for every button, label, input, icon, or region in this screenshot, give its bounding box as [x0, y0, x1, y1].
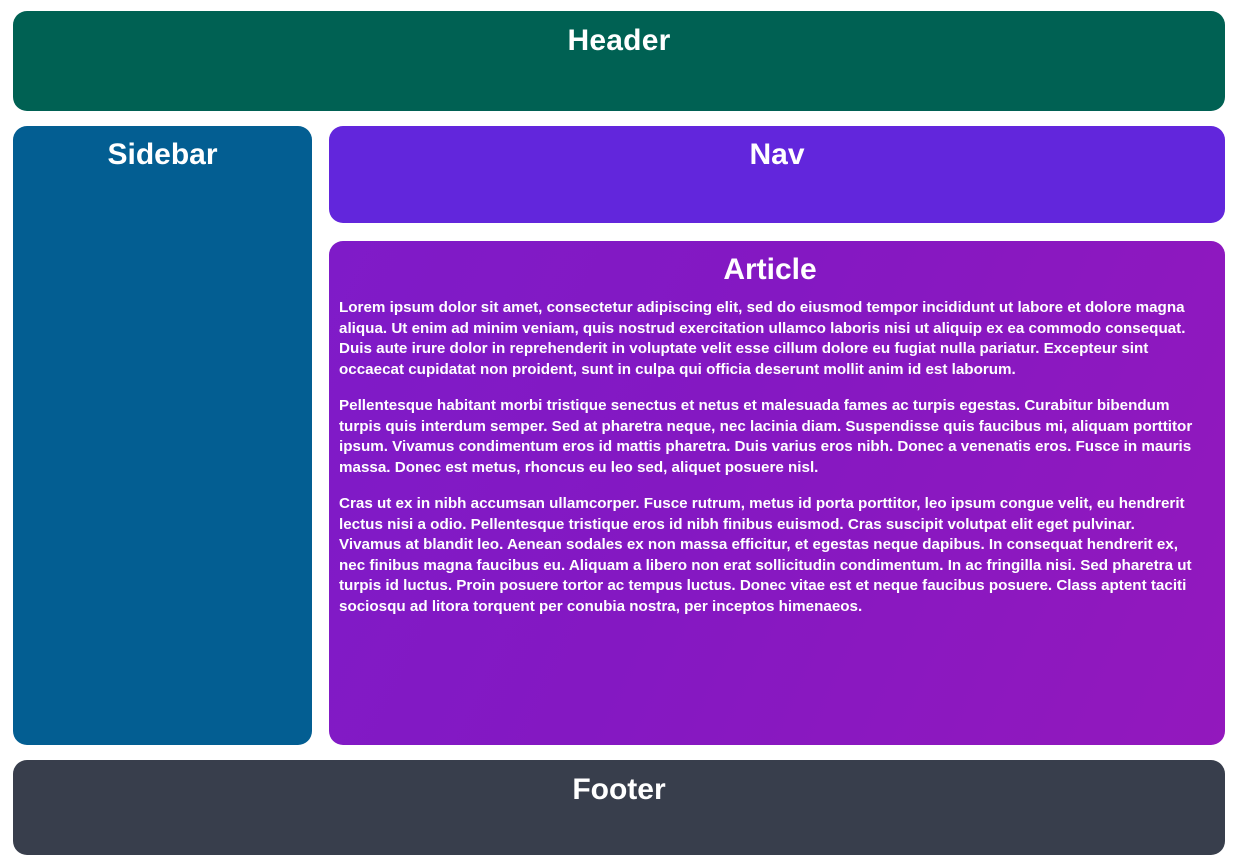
footer-region: Footer: [13, 760, 1225, 855]
content-column: Nav Article Lorem ipsum dolor sit amet, …: [329, 126, 1225, 745]
middle-row: Sidebar Nav Article Lorem ipsum dolor si…: [13, 126, 1225, 745]
header-region: Header: [13, 11, 1225, 111]
sidebar-title: Sidebar: [13, 137, 312, 173]
sidebar-region: Sidebar: [13, 126, 312, 745]
header-title: Header: [13, 23, 1225, 59]
article-paragraph: Lorem ipsum dolor sit amet, consectetur …: [339, 298, 1201, 380]
page-layout: Header Sidebar Nav Article Lorem ipsum d…: [0, 0, 1238, 867]
article-paragraph: Cras ut ex in nibh accumsan ullamcorper.…: [339, 494, 1201, 617]
article-title: Article: [339, 252, 1201, 288]
article-body: Lorem ipsum dolor sit amet, consectetur …: [339, 298, 1201, 617]
article-region: Article Lorem ipsum dolor sit amet, cons…: [329, 241, 1225, 745]
nav-region[interactable]: Nav: [329, 126, 1225, 223]
footer-title: Footer: [13, 772, 1225, 808]
article-paragraph: Pellentesque habitant morbi tristique se…: [339, 396, 1201, 478]
nav-title: Nav: [329, 137, 1225, 173]
